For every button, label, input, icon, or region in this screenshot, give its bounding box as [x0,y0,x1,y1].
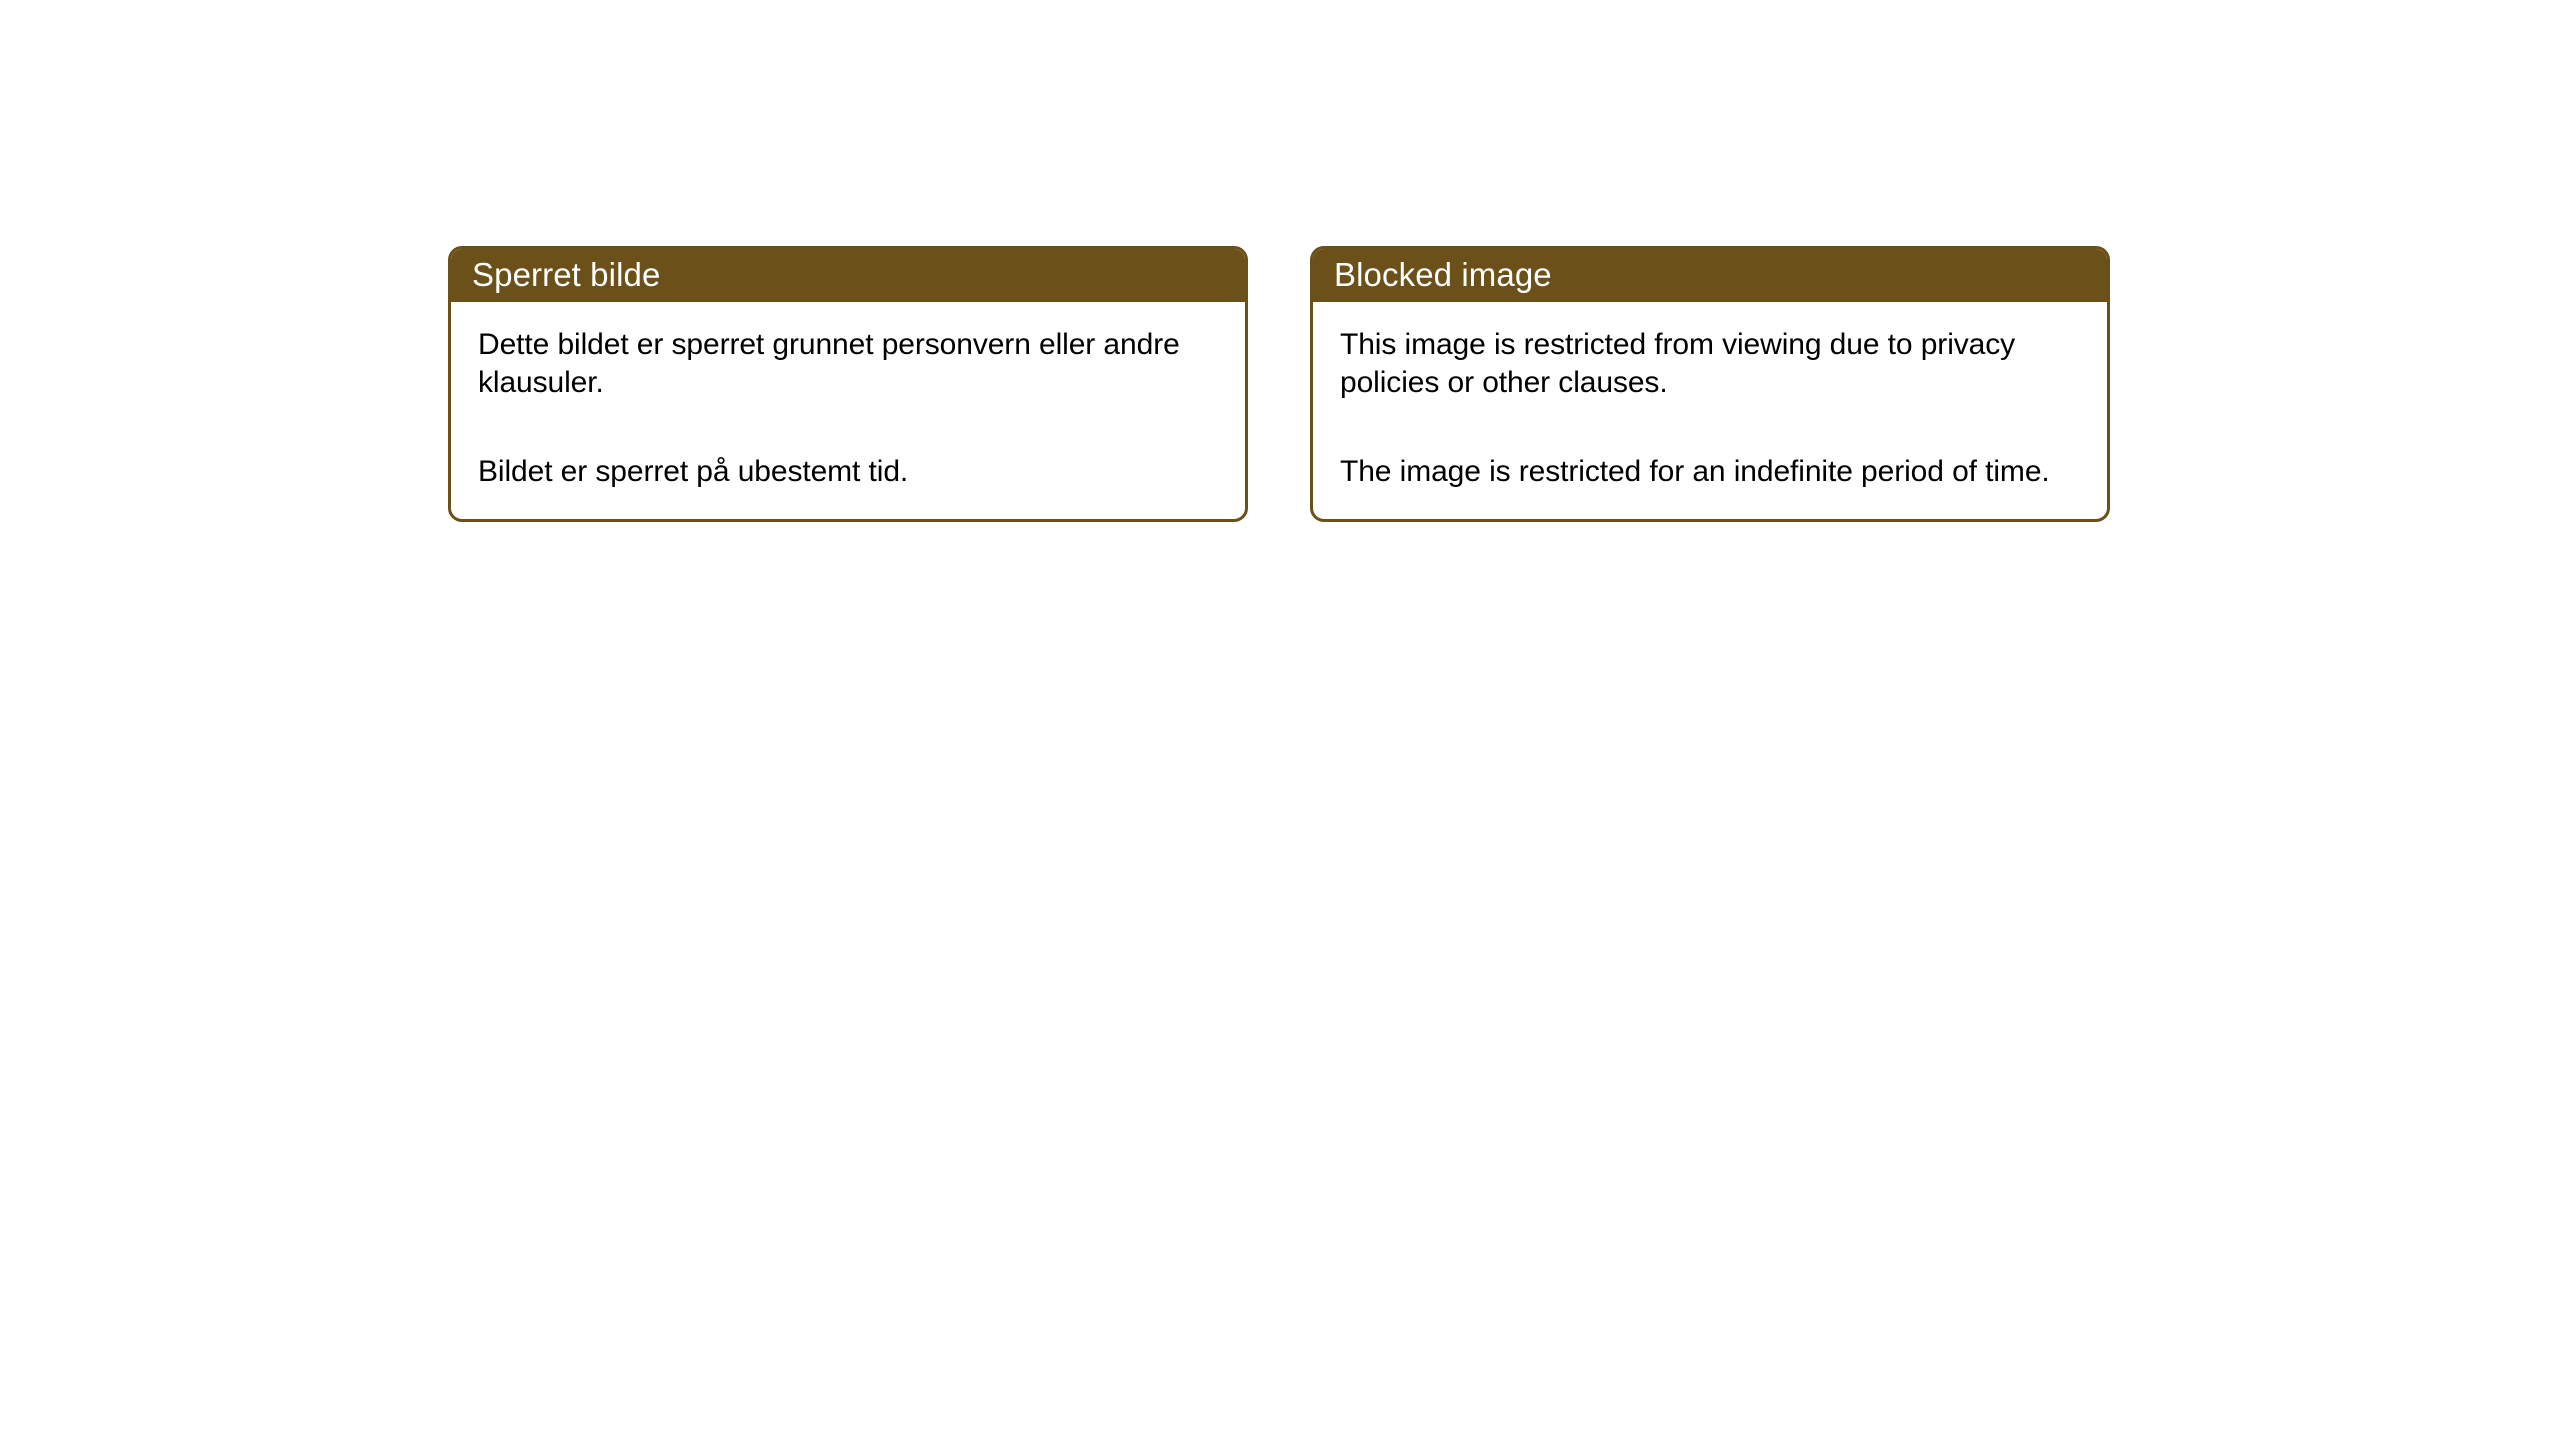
card-paragraph-norwegian-2: Bildet er sperret på ubestemt tid. [478,453,1221,491]
card-header-english: Blocked image [1310,246,2110,302]
card-paragraph-english-1: This image is restricted from viewing du… [1340,326,2083,403]
card-header-norwegian: Sperret bilde [448,246,1248,302]
card-paragraph-norwegian-1: Dette bildet er sperret grunnet personve… [478,326,1221,403]
card-title-english: Blocked image [1334,258,1552,291]
blocked-image-card-norwegian: Sperret bilde Dette bildet er sperret gr… [448,246,1248,522]
card-title-norwegian: Sperret bilde [472,258,660,291]
blocked-image-card-english: Blocked image This image is restricted f… [1310,246,2110,522]
card-body-english: This image is restricted from viewing du… [1313,302,2107,519]
blocked-image-notice-area: Sperret bilde Dette bildet er sperret gr… [448,246,2110,522]
card-paragraph-english-2: The image is restricted for an indefinit… [1340,453,2083,491]
card-body-norwegian: Dette bildet er sperret grunnet personve… [451,302,1245,519]
